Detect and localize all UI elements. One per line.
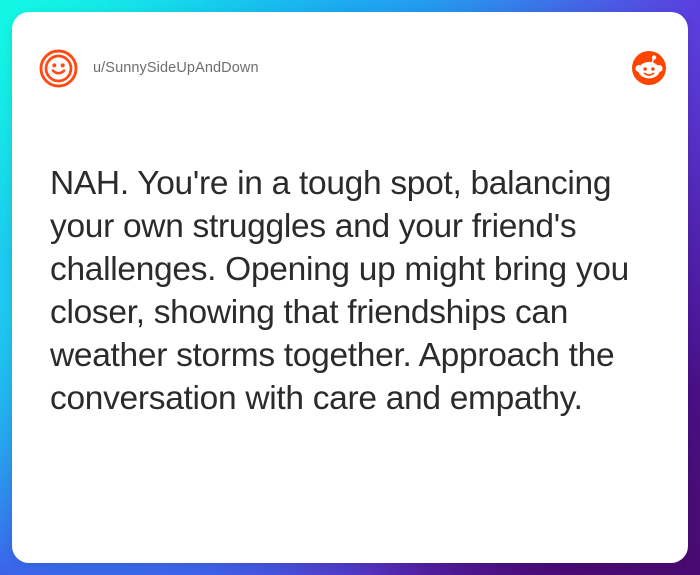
card-header: u/SunnySideUpAndDown — [12, 40, 688, 96]
quote-text: NAH. You're in a tough spot, balancing y… — [50, 162, 668, 420]
smiley-face-avatar-icon[interactable] — [38, 48, 79, 89]
reddit-snoo-logo-icon[interactable] — [632, 51, 666, 85]
post-card: u/SunnySideUpAndDown NAH. You're — [12, 12, 688, 563]
username-label: u/SunnySideUpAndDown — [93, 60, 259, 76]
quote-card-image: u/SunnySideUpAndDown NAH. You're — [0, 0, 700, 575]
